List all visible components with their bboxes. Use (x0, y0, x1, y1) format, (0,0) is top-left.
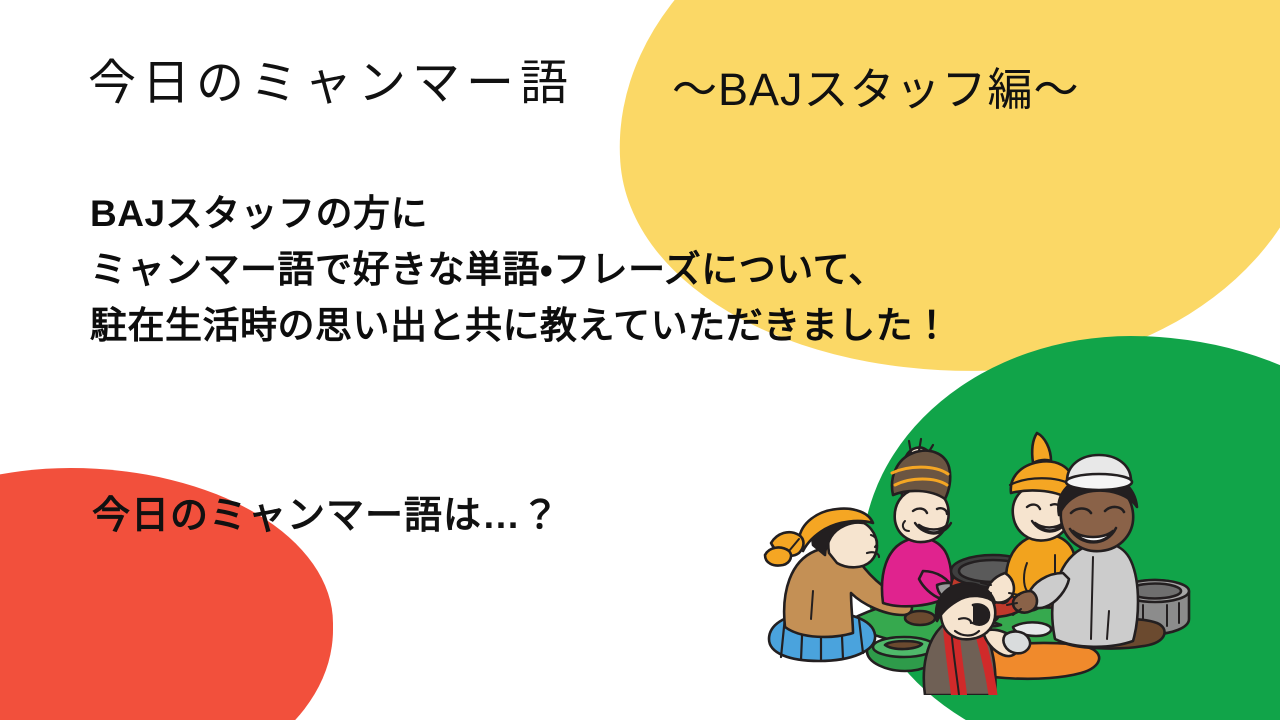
body-line-1: BAJスタッフの方に (90, 186, 951, 242)
slide-canvas: 今日のミャンマー語 〜BAJスタッフ編〜 BAJスタッフの方に ミャンマー語で好… (0, 0, 1280, 720)
myanmar-people-illustration (755, 395, 1195, 695)
page-subtitle: 〜BAJスタッフ編〜 (672, 64, 1080, 116)
body-line-3: 駐在生活時の思い出と共に教えていただきました！ (90, 298, 951, 354)
question-text: 今日のミャンマー語は…？ (92, 484, 560, 539)
body-line-2: ミャンマー語で好きな単語・フレーズについて、 (90, 242, 951, 298)
page-title: 今日のミャンマー語 (88, 56, 574, 111)
body-paragraph: BAJスタッフの方に ミャンマー語で好きな単語・フレーズについて、 駐在生活時の… (90, 186, 951, 355)
